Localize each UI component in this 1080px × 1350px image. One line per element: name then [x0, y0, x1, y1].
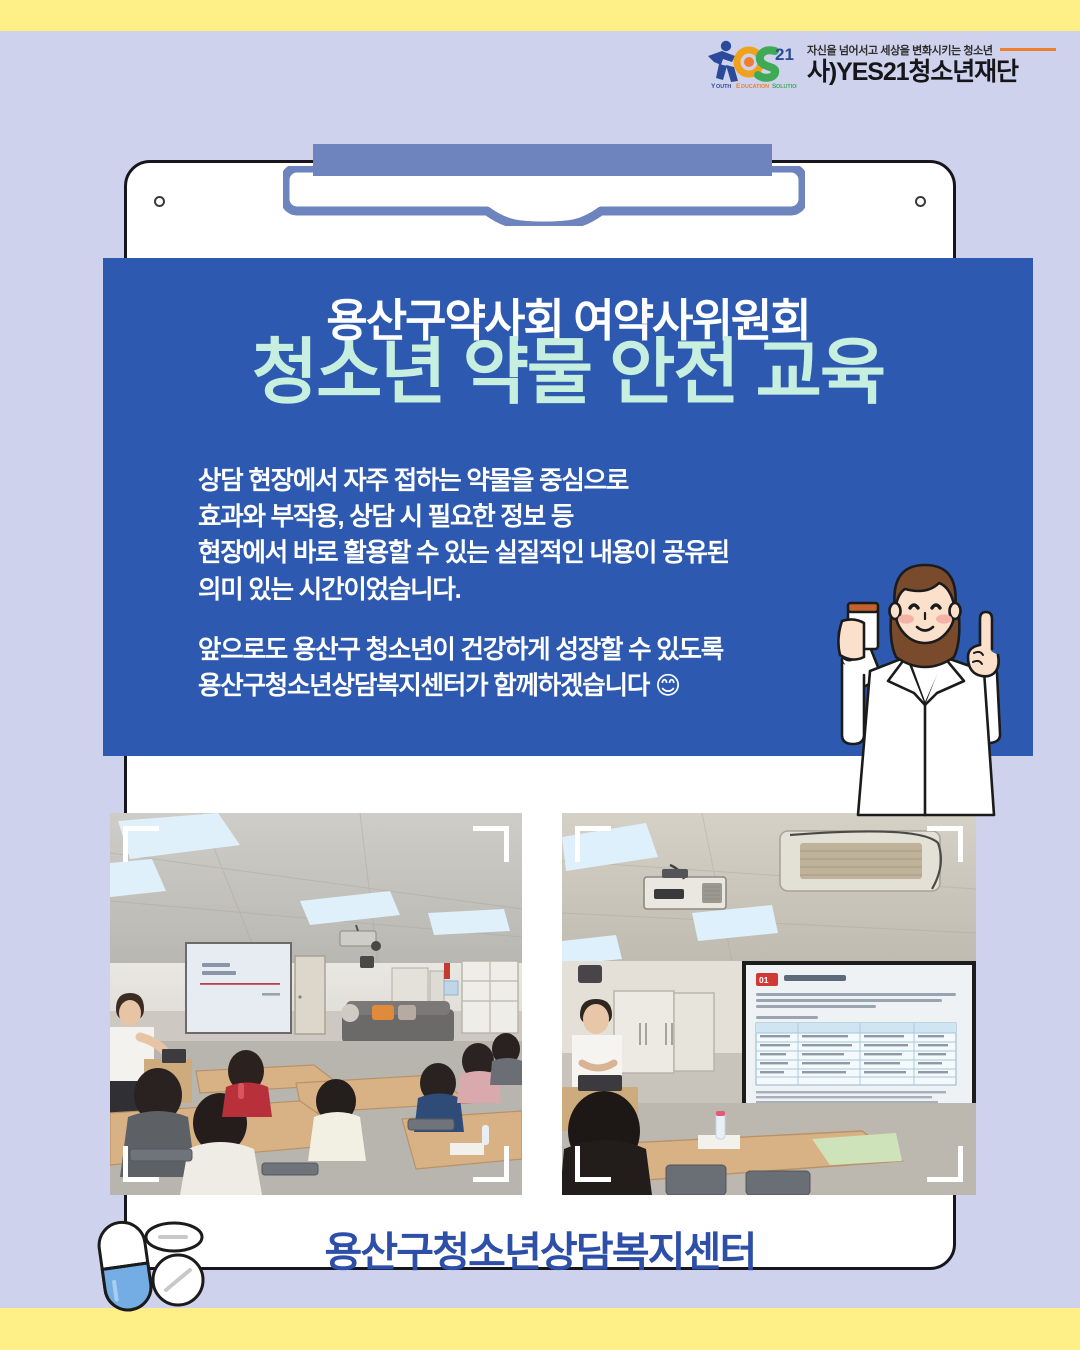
svg-text:OLUTIONS: OLUTIONS — [776, 84, 797, 90]
photo-corner-top-left — [123, 826, 159, 862]
brand-tagline-row: 자신을 넘어서고 세상을 변화시키는 청소년 — [807, 42, 1056, 58]
foundation-logo-lockup: 21 Y OUTH E DUCATION S OLUTIONS 자신을 넘어서고… — [705, 33, 1025, 95]
pharmacist-illustration — [818, 553, 1048, 818]
photo-corner-top-right — [927, 826, 963, 862]
brand-name: 사)YES21청소년재단 — [807, 59, 1056, 87]
top-accent-band — [0, 0, 1080, 31]
clipboard-label-outline-icon — [283, 166, 805, 226]
photo-corner-bottom-right — [927, 1146, 963, 1182]
photo-classroom-wide[interactable] — [110, 813, 522, 1195]
photo-screen-slide[interactable]: 01 — [562, 813, 976, 1195]
yes21-logo-icon: 21 Y OUTH E DUCATION S OLUTIONS — [705, 36, 797, 92]
photo-gallery: 01 — [110, 813, 976, 1195]
smiley-emoji-icon: 😊 — [655, 672, 680, 700]
svg-text:OUTH: OUTH — [716, 84, 731, 90]
photo-corner-bottom-left — [575, 1146, 611, 1182]
brand-text-block: 자신을 넘어서고 세상을 변화시키는 청소년 사)YES21청소년재단 — [807, 42, 1056, 87]
photo-corner-top-left — [575, 826, 611, 862]
svg-text:01: 01 — [759, 975, 769, 985]
hero-paragraph-2-line-2: 용산구청소년상담복지센터가 함께하겠습니다 — [198, 672, 649, 700]
hero-body-text: 상담 현장에서 자주 접하는 약물을 중심으로 효과와 부작용, 상담 시 필요… — [198, 463, 898, 705]
svg-text:DUCATION: DUCATION — [741, 84, 769, 90]
brand-rule-divider — [1000, 48, 1056, 51]
hero-paragraph-2: 앞으로도 용산구 청소년이 건강하게 성장할 수 있도록용산구청소년상담복지센터… — [198, 632, 898, 705]
card-hole-left-icon — [154, 196, 165, 207]
photo-corner-bottom-left — [123, 1146, 159, 1182]
pills-decoration — [88, 1218, 238, 1323]
photo-corner-top-right — [473, 826, 509, 862]
footer-organization-name: 용산구청소년상담복지센터 — [124, 1218, 956, 1278]
hero-title-main: 청소년 약물 안전 교육 — [103, 336, 1033, 412]
hero-paragraph-1: 상담 현장에서 자주 접하는 약물을 중심으로 효과와 부작용, 상담 시 필요… — [198, 463, 898, 608]
photo-corner-bottom-right — [473, 1146, 509, 1182]
hero-paragraph-2-line-1: 앞으로도 용산구 청소년이 건강하게 성장할 수 있도록 — [198, 636, 723, 664]
card-hole-right-icon — [915, 196, 926, 207]
svg-text:21: 21 — [775, 45, 794, 64]
brand-tagline: 자신을 넘어서고 세상을 변화시키는 청소년 — [807, 42, 993, 58]
